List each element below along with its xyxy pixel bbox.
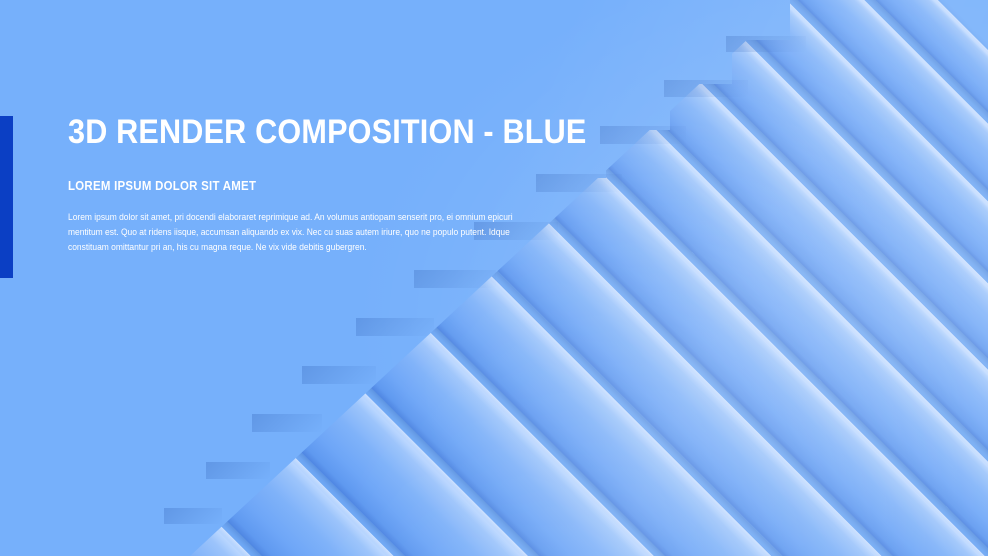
page-title: 3D RENDER COMPOSITION - BLUE <box>68 112 491 152</box>
body-paragraph: Lorem ipsum dolor sit amet, pri docendi … <box>68 209 536 255</box>
step-shadow <box>536 174 622 192</box>
step-notch <box>302 322 362 370</box>
step-shadow <box>664 80 748 97</box>
step-shadow <box>414 270 496 288</box>
text-block: 3D RENDER COMPOSITION - BLUE LOREM IPSUM… <box>68 112 538 255</box>
step-shadow <box>600 126 686 144</box>
presentation-slide: 3D RENDER COMPOSITION - BLUE LOREM IPSUM… <box>0 0 988 556</box>
step-shadow <box>726 36 806 52</box>
step-shadow <box>206 462 270 479</box>
step-notch <box>252 370 308 418</box>
step-shadow <box>164 508 222 524</box>
slide-subtitle: LOREM IPSUM DOLOR SIT AMET <box>68 178 482 194</box>
step-notch <box>164 466 212 512</box>
step-notch <box>726 0 790 40</box>
step-notch <box>356 274 420 322</box>
step-shadow <box>356 318 434 336</box>
accent-bar <box>0 116 13 278</box>
step-notch <box>206 418 258 466</box>
3d-render-artwork <box>0 0 988 556</box>
step-notch <box>600 84 670 130</box>
step-notch <box>664 40 732 84</box>
step-shadow <box>302 366 376 384</box>
step-shadow <box>252 414 322 432</box>
